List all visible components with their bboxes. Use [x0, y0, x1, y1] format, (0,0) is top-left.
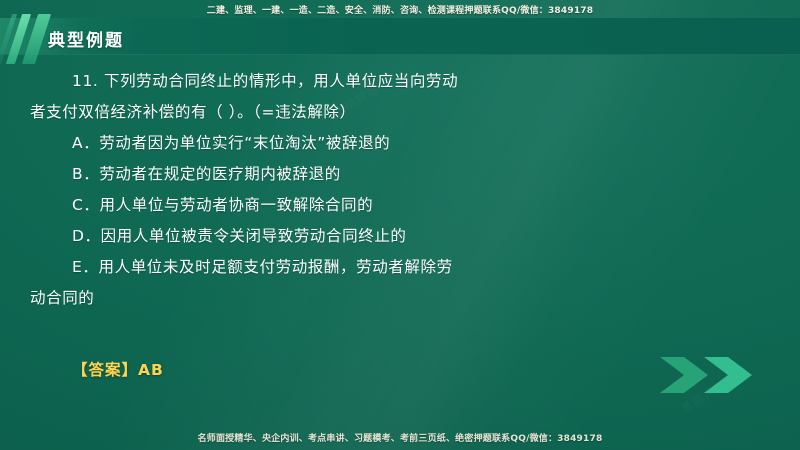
bottom-promo-strip: 名师面授精华、央企内训、考点串讲、习题模考、考前三页纸、绝密押题联系QQ/微信：…: [0, 431, 800, 444]
chevron-2: [704, 357, 752, 393]
option-c: C．用人单位与劳动者协商一致解除合同的: [30, 190, 630, 221]
option-d: D．因用人单位被责令关闭导致劳动合同终止的: [30, 221, 630, 252]
option-e-continuation: 动合同的: [30, 283, 630, 314]
answer-text: 【答案】AB: [72, 358, 164, 380]
option-b: B．劳动者在规定的医疗期内被辞退的: [30, 159, 630, 190]
page-title: 典型例题: [48, 26, 124, 51]
question-line-2: 者支付双倍经济补偿的有（ ）。（=违法解除）: [30, 97, 630, 128]
question-line-1: 11. 下列劳动合同终止的情形中，用人单位应当向劳动: [30, 66, 630, 97]
top-promo-text: 二建、监理、一建、一造、二造、安全、消防、咨询、检测课程押题联系QQ/微信：38…: [207, 3, 593, 16]
slide-canvas: 考前押题资料 考前押题 二建、监理、一建、一造、二造、安全、消防、咨询、检测课程…: [0, 0, 800, 450]
top-promo-strip: 二建、监理、一建、一造、二造、安全、消防、咨询、检测课程押题联系QQ/微信：38…: [0, 0, 800, 18]
chevron-1: [660, 357, 708, 393]
bottom-promo-text: 名师面授精华、央企内训、考点串讲、习题模考、考前三页纸、绝密押题联系QQ/微信：…: [198, 431, 603, 444]
option-a: A．劳动者因为单位实行“末位淘汰”被辞退的: [30, 128, 630, 159]
option-e: E．用人单位未及时足额支付劳动报酬，劳动者解除劳: [30, 252, 630, 283]
chevron-double-right-icon: [658, 355, 778, 395]
question-block: 11. 下列劳动合同终止的情形中，用人单位应当向劳动 者支付双倍经济补偿的有（ …: [30, 66, 630, 314]
